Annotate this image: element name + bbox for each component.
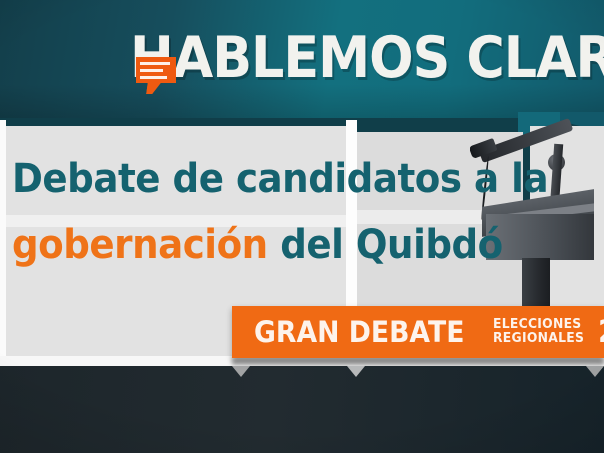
- banner-sub-line-2: REGIONALES: [493, 332, 584, 346]
- headline-line-2: gobernación del Quibdó: [12, 212, 496, 278]
- gran-debate-banner: GRAN DEBATE ELECCIONES REGIONALES 2023: [232, 306, 604, 358]
- headline-line-1: Debate de candidatos a la: [12, 146, 496, 212]
- speech-bubble-icon: [136, 57, 176, 83]
- banner-main-label: GRAN DEBATE: [254, 315, 464, 349]
- headline: Debate de candidatos a la gobernación de…: [12, 146, 496, 278]
- speech-bubble-lines: [140, 62, 172, 83]
- banner-sub-line-1: ELECCIONES: [493, 318, 584, 332]
- banner-sub-labels: ELECCIONES REGIONALES: [493, 318, 589, 346]
- sponsor-logos: P TELEPACÍFICO NOTICIAS CARACOL R A D I …: [0, 366, 604, 453]
- debate-promo-graphic: HABLEMOS CLAR Debate de candidatos a la …: [0, 0, 604, 453]
- program-title: HABLEMOS CLAR: [130, 30, 604, 87]
- headline-line-2-rest: del Quibdó: [268, 222, 503, 268]
- banner-shadow: [232, 358, 604, 365]
- headline-highlight: gobernación: [12, 222, 268, 268]
- banner-year: 2023: [598, 314, 604, 350]
